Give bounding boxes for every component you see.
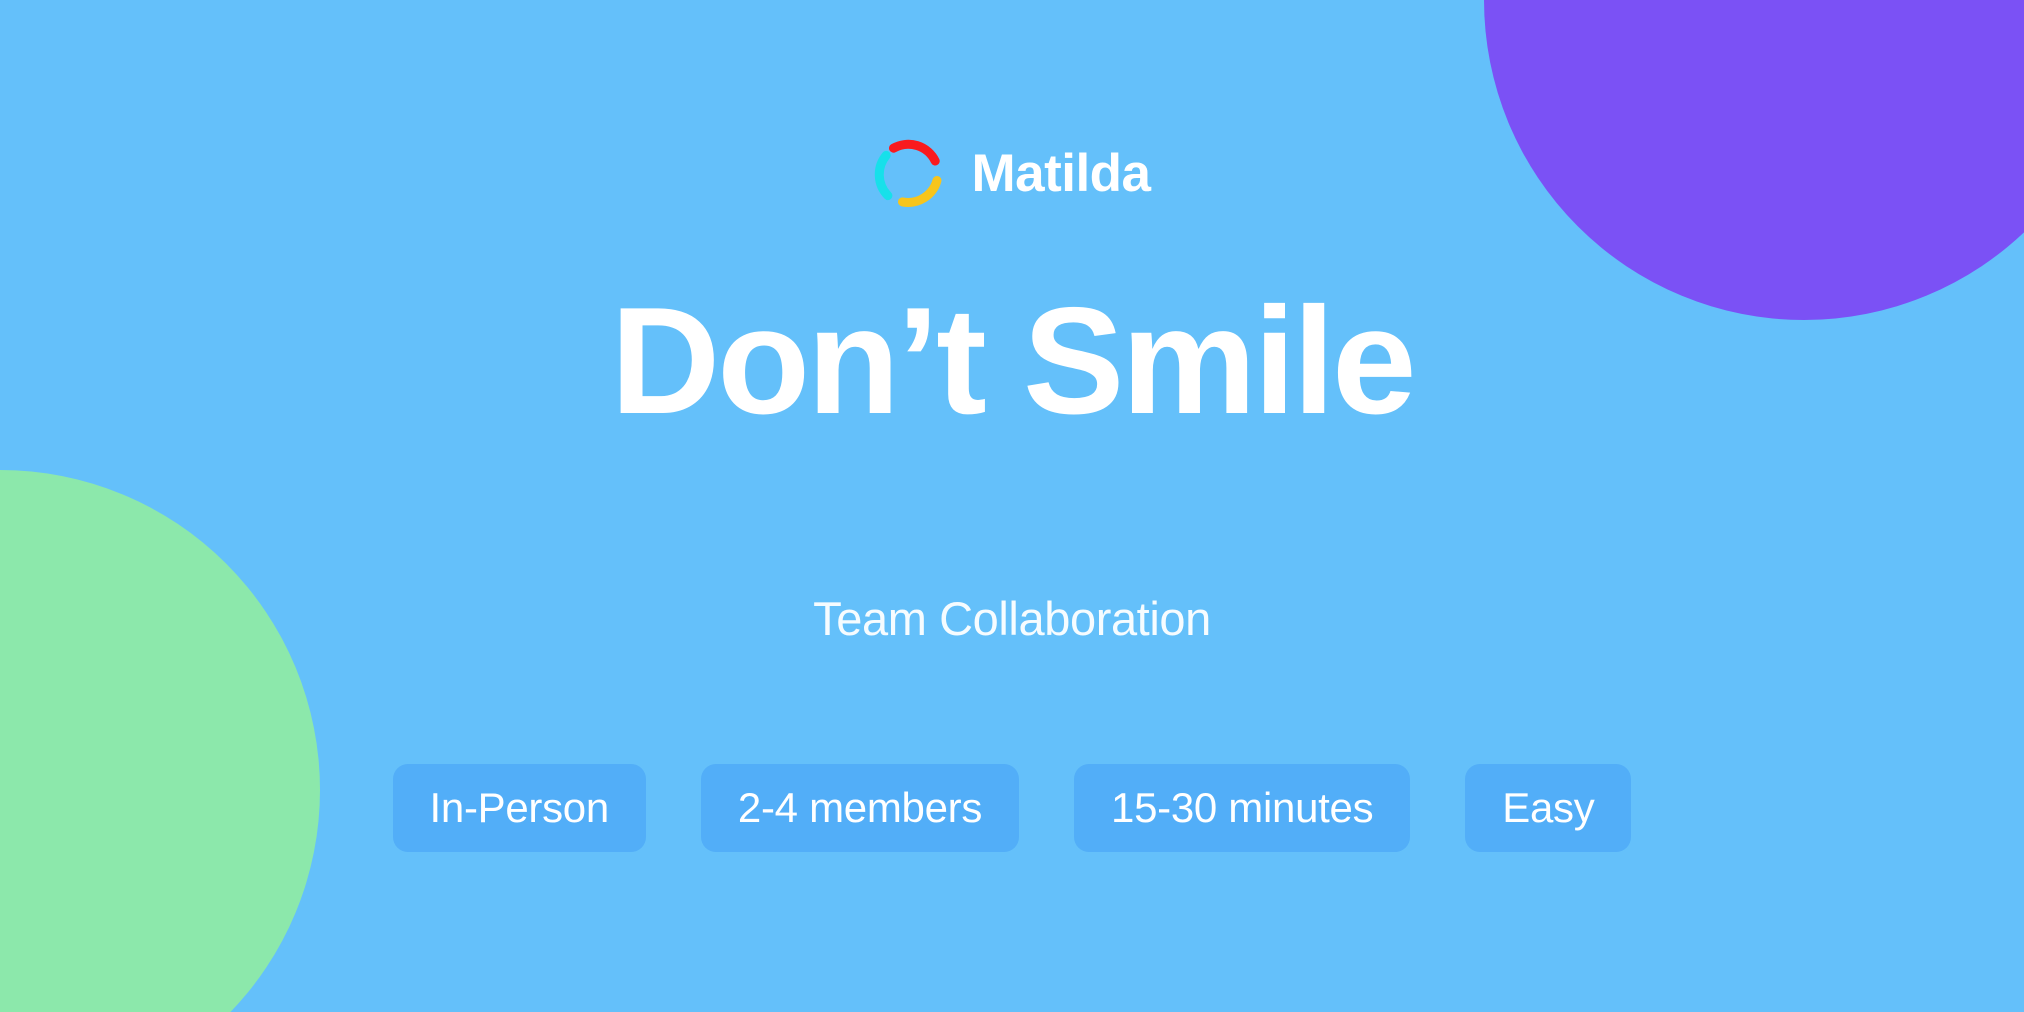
badge-format[interactable]: In-Person — [393, 764, 646, 852]
badge-row: In-Person 2-4 members 15-30 minutes Easy — [393, 764, 1632, 852]
brand-lockup: Matilda — [873, 137, 1150, 209]
hero-content: Matilda Don’t Smile Team Collaboration I… — [0, 0, 2024, 1012]
hero-card: Matilda Don’t Smile Team Collaboration I… — [0, 0, 2024, 1012]
matilda-ring-logo-icon — [873, 137, 945, 209]
badge-duration[interactable]: 15-30 minutes — [1074, 764, 1410, 852]
badge-difficulty[interactable]: Easy — [1465, 764, 1631, 852]
badge-team-size[interactable]: 2-4 members — [701, 764, 1019, 852]
page-subtitle: Team Collaboration — [813, 595, 1211, 642]
page-title: Don’t Smile — [610, 285, 1413, 437]
brand-name: Matilda — [971, 147, 1150, 200]
